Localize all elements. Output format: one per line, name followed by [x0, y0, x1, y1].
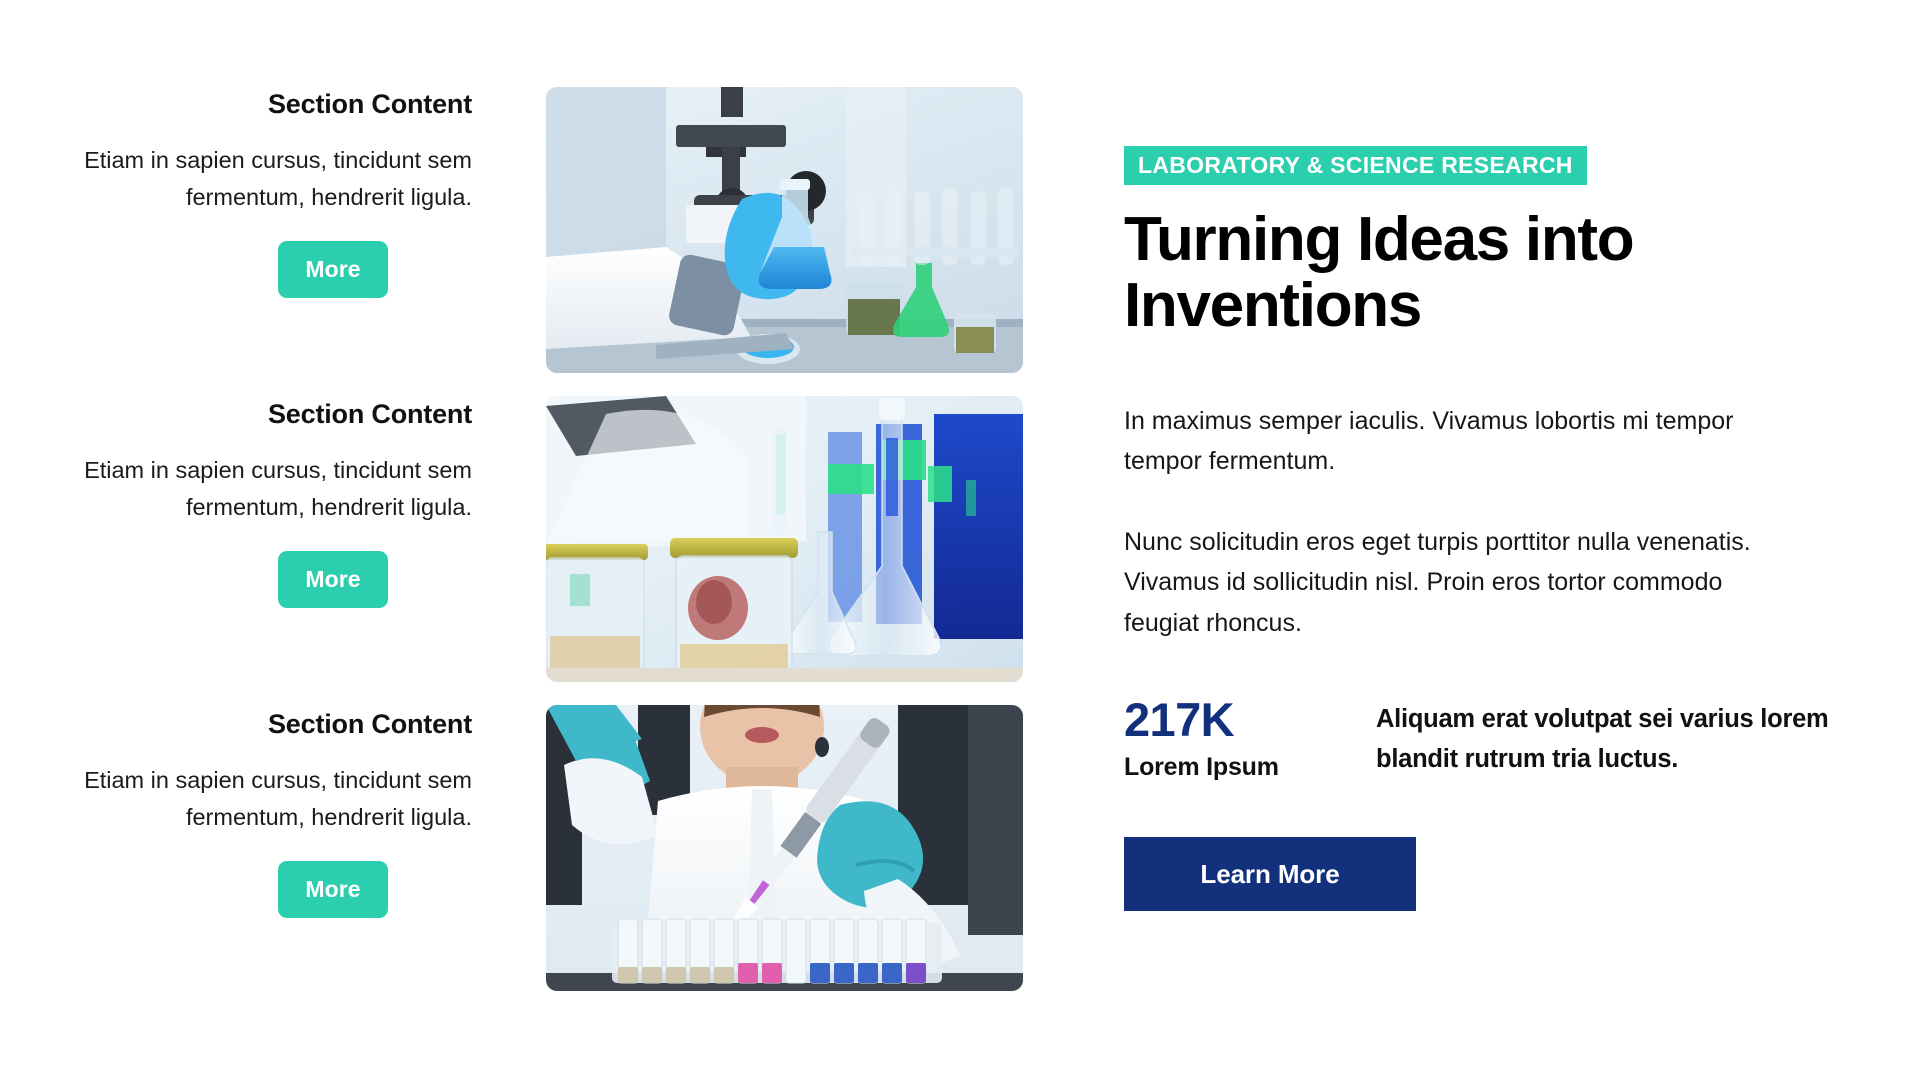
stat-block: 217K Lorem Ipsum — [1124, 695, 1376, 782]
feature-list: Section Content Etiam in sapien cursus, … — [60, 88, 520, 1018]
feature-button-wrap: More — [60, 241, 520, 298]
feature-title: Section Content — [60, 708, 520, 740]
lab-scientist-blue-flask-photo — [546, 87, 1023, 373]
stat-number: 217K — [1124, 695, 1376, 744]
hero-content: LABORATORY & SCIENCE RESEARCH Turning Id… — [1124, 146, 1864, 911]
learn-more-button[interactable]: Learn More — [1124, 837, 1416, 911]
more-button-1[interactable]: More — [278, 241, 388, 298]
lab-glass-jars-blue-flasks-photo — [546, 396, 1023, 682]
feature-block-1: Section Content Etiam in sapien cursus, … — [60, 88, 520, 398]
stat-label: Lorem Ipsum — [1124, 753, 1376, 782]
stats-row: 217K Lorem Ipsum Aliquam erat volutpat s… — [1124, 695, 1864, 782]
more-button-2[interactable]: More — [278, 551, 388, 608]
hero-eyebrow-badge: LABORATORY & SCIENCE RESEARCH — [1124, 146, 1587, 185]
feature-title: Section Content — [60, 88, 520, 120]
feature-description: Etiam in sapien cursus, tincidunt sem fe… — [60, 452, 520, 525]
landing-page: Section Content Etiam in sapien cursus, … — [0, 0, 1920, 1080]
hero-paragraph-2: Nunc solicitudin eros eget turpis portti… — [1124, 522, 1804, 644]
lab-scientist-pipette-tubes-photo — [546, 705, 1023, 991]
more-button-3[interactable]: More — [278, 861, 388, 918]
feature-description: Etiam in sapien cursus, tincidunt sem fe… — [60, 762, 520, 835]
stat-description: Aliquam erat volutpat sei varius lorem b… — [1376, 695, 1846, 780]
feature-block-2: Section Content Etiam in sapien cursus, … — [60, 398, 520, 708]
hero-paragraph-1: In maximus semper iaculis. Vivamus lobor… — [1124, 401, 1804, 482]
feature-button-wrap: More — [60, 861, 520, 918]
feature-title: Section Content — [60, 398, 520, 430]
feature-description: Etiam in sapien cursus, tincidunt sem fe… — [60, 142, 520, 215]
photo-gallery — [546, 87, 1023, 991]
feature-block-3: Section Content Etiam in sapien cursus, … — [60, 708, 520, 1018]
page-title: Turning Ideas into Inventions — [1124, 207, 1764, 338]
feature-button-wrap: More — [60, 551, 520, 608]
